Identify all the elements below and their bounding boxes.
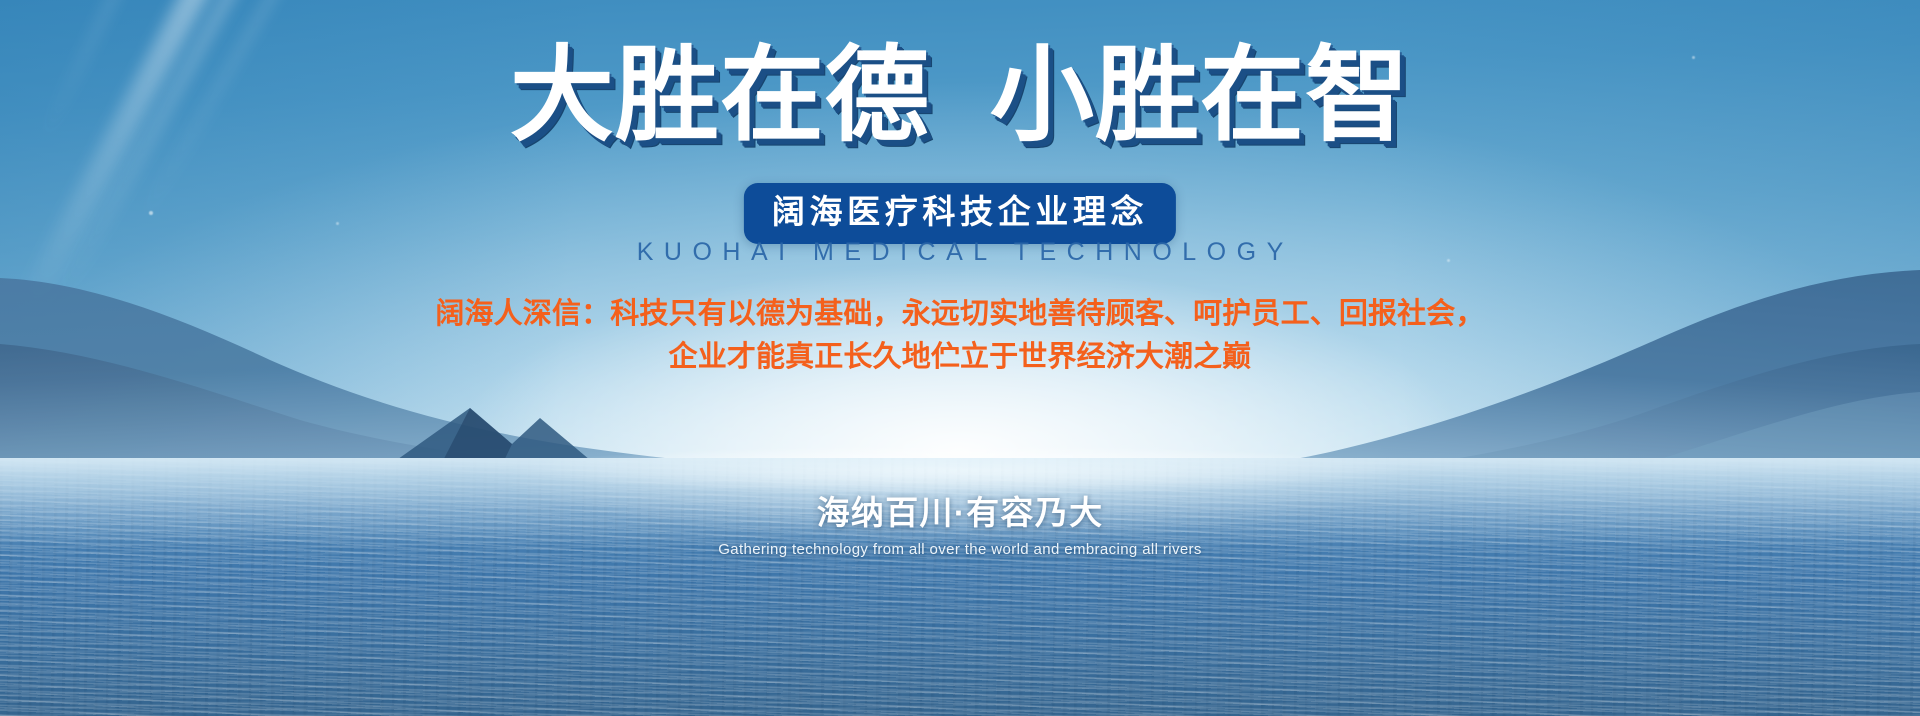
philosophy-slogan: 阔海人深信：科技只有以德为基础，永远切实地善待顾客、呵护员工、回报社会，企业才能… — [430, 293, 1490, 379]
footer-chinese-motto: 海纳百川·有容乃大 — [0, 486, 1920, 534]
headline: 大胜在德 小胜在智 — [0, 38, 1920, 154]
philosophy-badge: 阔海医疗科技企业理念 — [744, 183, 1176, 244]
english-subtitle: KUOHAI MEDICAL TECHNOLOGY — [0, 238, 1920, 267]
corporate-philosophy-banner: 大胜在德 小胜在智 阔海医疗科技企业理念 KUOHAI MEDICAL TECH… — [0, 0, 1920, 716]
footer-block: 海纳百川·有容乃大 Gathering technology from all … — [0, 486, 1920, 558]
banner-content: 大胜在德 小胜在智 阔海医疗科技企业理念 KUOHAI MEDICAL TECH… — [0, 0, 1920, 716]
footer-english-motto: Gathering technology from all over the w… — [0, 541, 1920, 558]
